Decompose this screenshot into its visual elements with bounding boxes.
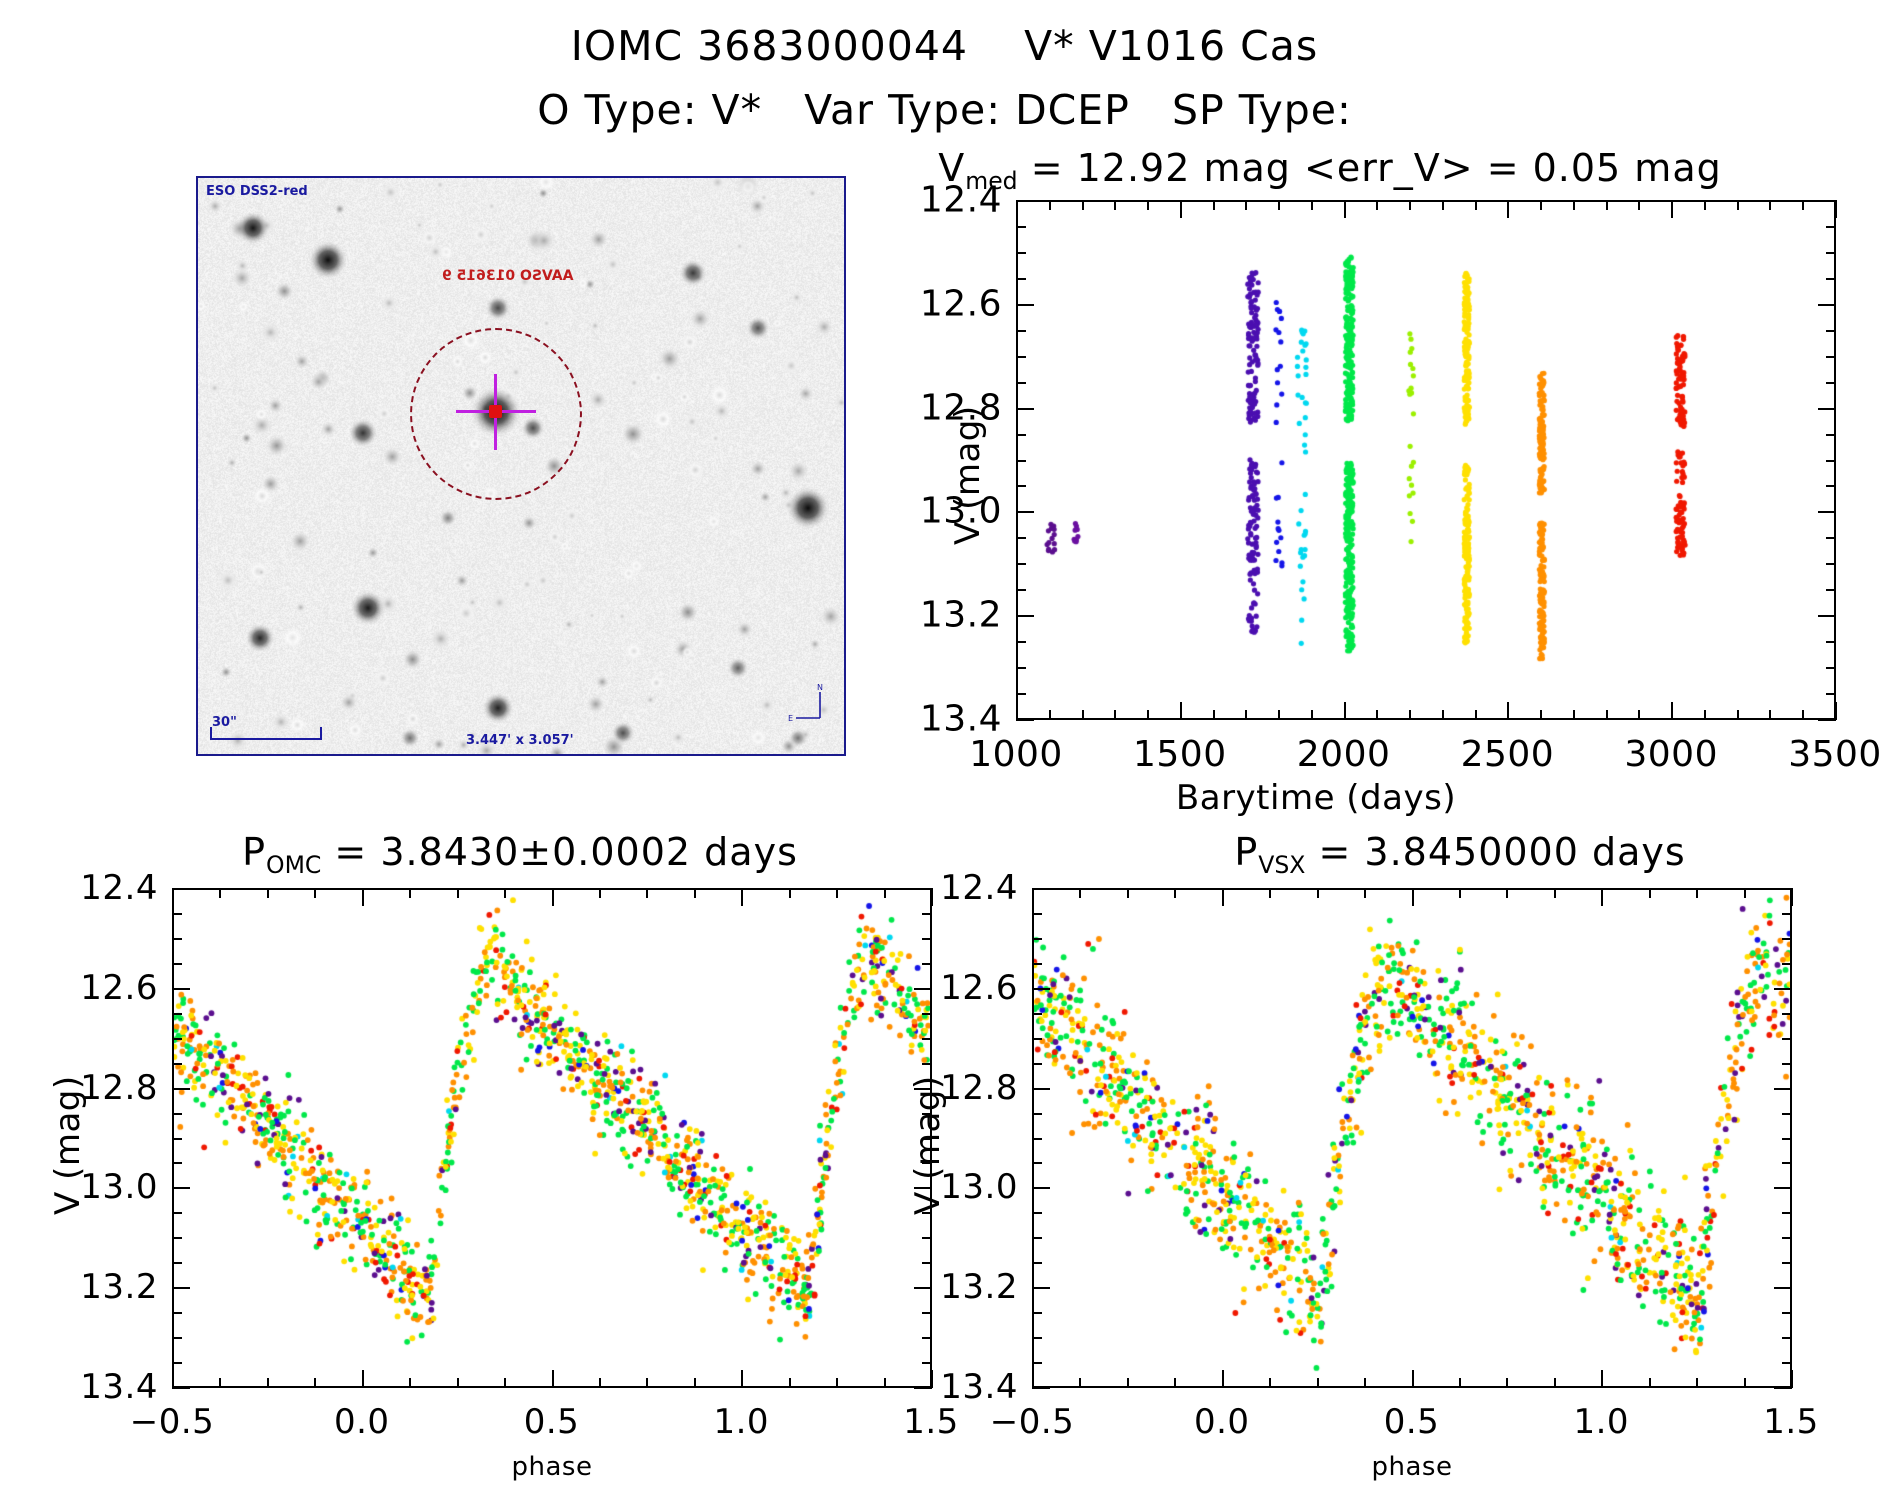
xaxis-minor-tick xyxy=(1376,710,1378,720)
xaxis-minor-tick-top xyxy=(1114,200,1116,210)
xaxis-minor-tick xyxy=(1364,1378,1366,1388)
xaxis-minor-tick xyxy=(504,1378,506,1388)
timeseries-scatter-canvas xyxy=(1018,202,1834,718)
xaxis-minor-tick xyxy=(457,1378,459,1388)
yaxis-minor-tick xyxy=(172,913,182,915)
xaxis-minor-tick-top xyxy=(1475,200,1477,210)
xaxis-tick-label: −0.5 xyxy=(990,1402,1075,1442)
yaxis-minor-tick xyxy=(1016,537,1026,539)
yaxis-tick-label: 12.8 xyxy=(920,387,1002,428)
xaxis-minor-tick xyxy=(1573,710,1575,720)
yaxis-minor-tick xyxy=(1016,641,1026,643)
xaxis-tick-label: 3000 xyxy=(1624,734,1718,775)
yaxis-minor-tick-right xyxy=(922,1212,932,1214)
omc-title-subscript: OMC xyxy=(266,851,321,879)
iomc-datasheet: IOMC 3683000044 V* V1016 Cas O Type: V* … xyxy=(0,0,1889,1494)
yaxis-major-tick xyxy=(1016,615,1034,617)
xaxis-tick-label: 2500 xyxy=(1461,734,1555,775)
xaxis-major-tick-top xyxy=(172,888,174,906)
xaxis-minor-tick-top xyxy=(1638,200,1640,210)
xaxis-minor-tick-top xyxy=(1696,888,1698,898)
yaxis-tick-label: 13.4 xyxy=(80,1367,158,1407)
xaxis-minor-tick xyxy=(1475,710,1477,720)
xaxis-minor-tick xyxy=(1540,710,1542,720)
yaxis-minor-tick xyxy=(1016,667,1026,669)
yaxis-major-tick xyxy=(1016,511,1034,513)
yaxis-minor-tick xyxy=(1016,356,1026,358)
xaxis-minor-tick-top xyxy=(1213,200,1215,210)
xaxis-major-tick xyxy=(1032,1370,1034,1388)
aavso-designation-label: AAVSO 013615 9 xyxy=(442,268,573,284)
yaxis-minor-tick-right xyxy=(1826,667,1836,669)
yaxis-minor-tick-right xyxy=(1782,1212,1792,1214)
xaxis-minor-tick-top xyxy=(1606,200,1608,210)
compass-rose-icon: N E xyxy=(788,684,828,724)
yaxis-major-tick-right xyxy=(914,1287,932,1289)
yaxis-minor-tick xyxy=(1016,252,1026,254)
xaxis-minor-tick-top xyxy=(219,888,221,898)
yaxis-minor-tick-right xyxy=(1782,1013,1792,1015)
xaxis-major-tick xyxy=(1412,1370,1414,1388)
yaxis-major-tick xyxy=(1016,304,1034,306)
xaxis-tick-label: 0.5 xyxy=(1384,1402,1440,1442)
dss-field-size-label: 3.447' x 3.057' xyxy=(466,733,574,748)
omc-title-rest: = 3.8430±0.0002 days xyxy=(321,830,798,874)
yaxis-minor-tick-right xyxy=(1782,1312,1792,1314)
xaxis-minor-tick-top xyxy=(1082,200,1084,210)
xaxis-minor-tick xyxy=(314,1378,316,1388)
yaxis-minor-tick xyxy=(172,1212,182,1214)
yaxis-tick-label: 12.4 xyxy=(940,868,1018,908)
xaxis-minor-tick-top xyxy=(457,888,459,898)
xaxis-minor-tick xyxy=(836,1378,838,1388)
xaxis-minor-tick xyxy=(1696,1378,1698,1388)
yaxis-minor-tick-right xyxy=(1782,1162,1792,1164)
yaxis-major-tick-right xyxy=(1818,408,1836,410)
yaxis-minor-tick xyxy=(172,1113,182,1115)
xaxis-minor-tick xyxy=(1442,710,1444,720)
yaxis-minor-tick xyxy=(1032,1262,1042,1264)
xaxis-minor-tick-top xyxy=(1737,200,1739,210)
yaxis-major-tick xyxy=(1016,719,1034,721)
xaxis-minor-tick xyxy=(1213,710,1215,720)
yaxis-minor-tick-right xyxy=(1826,434,1836,436)
yaxis-minor-tick-right xyxy=(1826,330,1836,332)
vsx-xaxis-label: phase xyxy=(1372,1452,1453,1482)
yaxis-minor-tick-right xyxy=(1826,226,1836,228)
xaxis-minor-tick-top xyxy=(1649,888,1651,898)
yaxis-minor-tick-right xyxy=(922,1162,932,1164)
omc-phase-scatter-canvas xyxy=(174,890,930,1386)
yaxis-tick-label: 12.4 xyxy=(920,180,1002,221)
yaxis-minor-tick-right xyxy=(1782,1337,1792,1339)
target-marker xyxy=(489,405,502,418)
xaxis-major-tick xyxy=(1835,702,1837,720)
yaxis-minor-tick-right xyxy=(1826,278,1836,280)
yaxis-major-tick-right xyxy=(914,988,932,990)
xaxis-minor-tick xyxy=(1082,710,1084,720)
xaxis-major-tick-top xyxy=(1601,888,1603,906)
xaxis-major-tick-top xyxy=(1412,888,1414,906)
yaxis-minor-tick xyxy=(1016,330,1026,332)
yaxis-minor-tick xyxy=(172,1013,182,1015)
yaxis-major-tick xyxy=(1032,1287,1050,1289)
yaxis-minor-tick xyxy=(1016,589,1026,591)
yaxis-minor-tick-right xyxy=(1782,1262,1792,1264)
xaxis-minor-tick-top xyxy=(1079,888,1081,898)
xaxis-major-tick-top xyxy=(1791,888,1793,906)
yaxis-tick-label: 12.6 xyxy=(920,283,1002,324)
yaxis-minor-tick xyxy=(1032,1237,1042,1239)
yaxis-minor-tick-right xyxy=(1782,1138,1792,1140)
yaxis-minor-tick xyxy=(172,938,182,940)
yaxis-minor-tick-right xyxy=(922,1138,932,1140)
yaxis-minor-tick-right xyxy=(1826,693,1836,695)
xaxis-major-tick xyxy=(362,1370,364,1388)
yaxis-minor-tick xyxy=(1032,1013,1042,1015)
xaxis-major-tick-top xyxy=(741,888,743,906)
xaxis-minor-tick-top xyxy=(1049,200,1051,210)
yaxis-minor-tick xyxy=(1016,563,1026,565)
yaxis-minor-tick-right xyxy=(1826,537,1836,539)
xaxis-minor-tick-top xyxy=(1554,888,1556,898)
yaxis-major-tick xyxy=(172,1387,190,1389)
xaxis-minor-tick xyxy=(1704,710,1706,720)
xaxis-minor-tick xyxy=(884,1378,886,1388)
yaxis-minor-tick-right xyxy=(922,1362,932,1364)
vsx-title-rest: = 3.8450000 days xyxy=(1305,830,1685,874)
yaxis-major-tick-right xyxy=(1818,200,1836,202)
xaxis-minor-tick xyxy=(1311,710,1313,720)
yaxis-minor-tick xyxy=(1032,1362,1042,1364)
yaxis-minor-tick xyxy=(1032,938,1042,940)
xaxis-minor-tick-top xyxy=(1317,888,1319,898)
yaxis-tick-label: 13.2 xyxy=(920,595,1002,636)
xaxis-minor-tick-top xyxy=(884,888,886,898)
xaxis-minor-tick xyxy=(1317,1378,1319,1388)
xaxis-major-tick-top xyxy=(1032,888,1034,906)
yaxis-minor-tick xyxy=(1016,485,1026,487)
yaxis-minor-tick xyxy=(1032,1212,1042,1214)
yaxis-minor-tick xyxy=(172,1262,182,1264)
xaxis-minor-tick xyxy=(1174,1378,1176,1388)
omc-panel-title: POMC = 3.8430±0.0002 days xyxy=(100,830,940,879)
yaxis-major-tick-right xyxy=(914,888,932,890)
yaxis-minor-tick xyxy=(1032,1337,1042,1339)
yaxis-major-tick-right xyxy=(914,1088,932,1090)
yaxis-tick-label: 13.0 xyxy=(80,1167,158,1207)
yaxis-minor-tick xyxy=(1032,1138,1042,1140)
xaxis-minor-tick xyxy=(1554,1378,1556,1388)
xaxis-minor-tick-top xyxy=(1573,200,1575,210)
timeseries-plot-frame xyxy=(1016,200,1836,720)
xaxis-minor-tick xyxy=(1606,710,1608,720)
yaxis-minor-tick-right xyxy=(922,938,932,940)
xaxis-minor-tick-top xyxy=(694,888,696,898)
yaxis-minor-tick xyxy=(172,1237,182,1239)
yaxis-minor-tick xyxy=(1016,434,1026,436)
yaxis-minor-tick-right xyxy=(1782,1038,1792,1040)
yaxis-major-tick-right xyxy=(1774,1287,1792,1289)
xaxis-major-tick-top xyxy=(552,888,554,906)
yaxis-minor-tick-right xyxy=(922,1013,932,1015)
xaxis-minor-tick xyxy=(1649,1378,1651,1388)
yaxis-minor-tick xyxy=(1016,460,1026,462)
xaxis-minor-tick xyxy=(1638,710,1640,720)
xaxis-minor-tick-top xyxy=(1376,200,1378,210)
yaxis-major-tick xyxy=(1032,988,1050,990)
timeseries-xaxis-label: Barytime (days) xyxy=(1176,778,1456,818)
yaxis-minor-tick-right xyxy=(922,1262,932,1264)
yaxis-major-tick-right xyxy=(914,1187,932,1189)
svg-text:N: N xyxy=(817,684,823,692)
xaxis-minor-tick-top xyxy=(1269,888,1271,898)
xaxis-major-tick-top xyxy=(1671,200,1673,218)
yaxis-tick-label: 13.0 xyxy=(920,491,1002,532)
yaxis-minor-tick xyxy=(172,1138,182,1140)
xaxis-major-tick-top xyxy=(1016,200,1018,218)
yaxis-major-tick-right xyxy=(1818,719,1836,721)
yaxis-major-tick xyxy=(172,1287,190,1289)
yaxis-minor-tick xyxy=(172,1063,182,1065)
xaxis-minor-tick-top xyxy=(409,888,411,898)
xaxis-tick-label: 1000 xyxy=(969,734,1063,775)
vsx-phase-plot-frame xyxy=(1032,888,1792,1388)
yaxis-major-tick xyxy=(172,988,190,990)
yaxis-tick-label: 12.4 xyxy=(80,868,158,908)
xaxis-major-tick xyxy=(931,1370,933,1388)
yaxis-major-tick xyxy=(172,888,190,890)
omc-phase-plot-frame xyxy=(172,888,932,1388)
xaxis-minor-tick xyxy=(1506,1378,1508,1388)
yaxis-major-tick-right xyxy=(1774,1088,1792,1090)
xaxis-tick-label: 0.0 xyxy=(334,1402,390,1442)
xaxis-major-tick-top xyxy=(362,888,364,906)
dss-finder-chart: ESO DSS2-red AAVSO 013615 9 30" 3.447' x… xyxy=(196,176,846,756)
xaxis-minor-tick-top xyxy=(1704,200,1706,210)
xaxis-major-tick xyxy=(1016,702,1018,720)
xaxis-minor-tick-top xyxy=(1174,888,1176,898)
yaxis-minor-tick-right xyxy=(1826,641,1836,643)
xaxis-minor-tick-top xyxy=(1311,200,1313,210)
yaxis-major-tick xyxy=(1032,1187,1050,1189)
yaxis-minor-tick-right xyxy=(1782,1362,1792,1364)
yaxis-minor-tick-right xyxy=(1826,563,1836,565)
omc-title-p: P xyxy=(242,830,266,874)
yaxis-minor-tick xyxy=(172,1362,182,1364)
vsx-title-p: P xyxy=(1234,830,1258,874)
xaxis-minor-tick xyxy=(1049,710,1051,720)
dss-survey-label: ESO DSS2-red xyxy=(206,184,308,199)
xaxis-major-tick-top xyxy=(1835,200,1837,218)
yaxis-tick-label: 12.8 xyxy=(80,1068,158,1108)
xaxis-major-tick xyxy=(1344,702,1346,720)
object-types-line: O Type: V* Var Type: DCEP SP Type: xyxy=(0,86,1889,134)
yaxis-minor-tick-right xyxy=(1826,356,1836,358)
dss-scalebar-label: 30" xyxy=(212,715,237,730)
svg-text:E: E xyxy=(788,714,793,723)
xaxis-minor-tick-top xyxy=(836,888,838,898)
yaxis-minor-tick-right xyxy=(1782,963,1792,965)
yaxis-minor-tick-right xyxy=(922,1312,932,1314)
xaxis-minor-tick-top xyxy=(646,888,648,898)
xaxis-minor-tick xyxy=(1769,710,1771,720)
xaxis-major-tick xyxy=(1222,1370,1224,1388)
yaxis-minor-tick-right xyxy=(922,963,932,965)
xaxis-minor-tick xyxy=(1127,1378,1129,1388)
yaxis-minor-tick-right xyxy=(1826,460,1836,462)
yaxis-minor-tick xyxy=(172,1337,182,1339)
yaxis-minor-tick xyxy=(1016,693,1026,695)
yaxis-tick-label: 13.2 xyxy=(80,1267,158,1307)
yaxis-tick-label: 12.6 xyxy=(80,968,158,1008)
xaxis-minor-tick-top xyxy=(1127,888,1129,898)
yaxis-minor-tick xyxy=(1016,382,1026,384)
xaxis-minor-tick xyxy=(219,1378,221,1388)
xaxis-minor-tick-top xyxy=(267,888,269,898)
xaxis-minor-tick xyxy=(1459,1378,1461,1388)
xaxis-tick-label: 1.5 xyxy=(903,1402,959,1442)
xaxis-major-tick xyxy=(1671,702,1673,720)
yaxis-major-tick xyxy=(172,1088,190,1090)
omc-xaxis-label: phase xyxy=(512,1452,593,1482)
yaxis-minor-tick xyxy=(1032,1312,1042,1314)
yaxis-minor-tick xyxy=(1032,963,1042,965)
xaxis-minor-tick xyxy=(1744,1378,1746,1388)
xaxis-minor-tick xyxy=(409,1378,411,1388)
xaxis-minor-tick-top xyxy=(1278,200,1280,210)
yaxis-major-tick-right xyxy=(1774,1187,1792,1189)
xaxis-minor-tick xyxy=(1079,1378,1081,1388)
vsx-title-subscript: VSX xyxy=(1258,851,1305,879)
xaxis-minor-tick-top xyxy=(1802,200,1804,210)
xaxis-minor-tick xyxy=(1802,710,1804,720)
yaxis-minor-tick xyxy=(172,1312,182,1314)
yaxis-major-tick xyxy=(1032,1387,1050,1389)
page-title: IOMC 3683000044 V* V1016 Cas xyxy=(0,22,1889,70)
xaxis-minor-tick xyxy=(1278,710,1280,720)
yaxis-minor-tick-right xyxy=(922,1337,932,1339)
xaxis-major-tick xyxy=(1507,702,1509,720)
yaxis-tick-label: 12.8 xyxy=(940,1068,1018,1108)
yaxis-major-tick xyxy=(1016,200,1034,202)
yaxis-minor-tick xyxy=(1016,278,1026,280)
yaxis-minor-tick-right xyxy=(1782,913,1792,915)
yaxis-minor-tick xyxy=(1032,1038,1042,1040)
yaxis-minor-tick xyxy=(172,963,182,965)
vmed-text: = 12.92 mag <err_V> = 0.05 mag xyxy=(1018,146,1722,190)
yaxis-major-tick xyxy=(1032,1088,1050,1090)
xaxis-minor-tick-top xyxy=(1459,888,1461,898)
xaxis-minor-tick-top xyxy=(1147,200,1149,210)
yaxis-minor-tick-right xyxy=(1782,1063,1792,1065)
xaxis-major-tick xyxy=(552,1370,554,1388)
xaxis-major-tick xyxy=(741,1370,743,1388)
xaxis-major-tick-top xyxy=(1344,200,1346,218)
yaxis-minor-tick xyxy=(172,1162,182,1164)
yaxis-tick-label: 13.4 xyxy=(920,699,1002,740)
xaxis-minor-tick-top xyxy=(1506,888,1508,898)
xaxis-minor-tick xyxy=(1409,710,1411,720)
xaxis-major-tick xyxy=(172,1370,174,1388)
yaxis-major-tick xyxy=(1032,888,1050,890)
yaxis-major-tick-right xyxy=(1818,615,1836,617)
xaxis-minor-tick xyxy=(694,1378,696,1388)
yaxis-minor-tick xyxy=(1016,226,1026,228)
xaxis-minor-tick xyxy=(1737,710,1739,720)
xaxis-minor-tick-top xyxy=(789,888,791,898)
xaxis-minor-tick xyxy=(1147,710,1149,720)
vsx-panel-title: PVSX = 3.8450000 days xyxy=(1060,830,1860,879)
yaxis-minor-tick xyxy=(1032,913,1042,915)
xaxis-minor-tick xyxy=(267,1378,269,1388)
yaxis-minor-tick-right xyxy=(1826,485,1836,487)
yaxis-minor-tick xyxy=(1032,1113,1042,1115)
yaxis-minor-tick-right xyxy=(1826,382,1836,384)
yaxis-major-tick-right xyxy=(1774,888,1792,890)
xaxis-tick-label: −0.5 xyxy=(130,1402,215,1442)
xaxis-tick-label: 2000 xyxy=(1297,734,1391,775)
xaxis-major-tick-top xyxy=(931,888,933,906)
yaxis-tick-label: 13.0 xyxy=(940,1167,1018,1207)
xaxis-major-tick-top xyxy=(1222,888,1224,906)
xaxis-minor-tick-top xyxy=(314,888,316,898)
yaxis-minor-tick xyxy=(172,1038,182,1040)
xaxis-major-tick xyxy=(1791,1370,1793,1388)
yaxis-major-tick-right xyxy=(1818,304,1836,306)
yaxis-major-tick-right xyxy=(1818,511,1836,513)
yaxis-tick-label: 12.6 xyxy=(940,968,1018,1008)
vsx-phase-scatter-canvas xyxy=(1034,890,1790,1386)
yaxis-minor-tick-right xyxy=(1782,1113,1792,1115)
yaxis-minor-tick-right xyxy=(922,1063,932,1065)
xaxis-tick-label: 3500 xyxy=(1788,734,1882,775)
yaxis-minor-tick-right xyxy=(1782,1237,1792,1239)
xaxis-major-tick xyxy=(1601,1370,1603,1388)
xaxis-tick-label: 0.5 xyxy=(524,1402,580,1442)
yaxis-minor-tick-right xyxy=(922,1038,932,1040)
xaxis-minor-tick-top xyxy=(1769,200,1771,210)
yaxis-minor-tick-right xyxy=(1782,938,1792,940)
xaxis-minor-tick xyxy=(789,1378,791,1388)
xaxis-minor-tick xyxy=(1245,710,1247,720)
xaxis-minor-tick-top xyxy=(1540,200,1542,210)
yaxis-major-tick-right xyxy=(1774,1387,1792,1389)
xaxis-minor-tick-top xyxy=(599,888,601,898)
xaxis-minor-tick-top xyxy=(1744,888,1746,898)
yaxis-minor-tick-right xyxy=(1826,252,1836,254)
xaxis-minor-tick-top xyxy=(1364,888,1366,898)
xaxis-major-tick-top xyxy=(1180,200,1182,218)
yaxis-minor-tick-right xyxy=(922,1237,932,1239)
yaxis-minor-tick xyxy=(1032,1162,1042,1164)
xaxis-tick-label: 1.5 xyxy=(1763,1402,1819,1442)
xaxis-minor-tick-top xyxy=(1442,200,1444,210)
yaxis-major-tick xyxy=(1016,408,1034,410)
xaxis-tick-label: 1500 xyxy=(1133,734,1227,775)
xaxis-major-tick-top xyxy=(1507,200,1509,218)
xaxis-minor-tick-top xyxy=(1409,200,1411,210)
yaxis-minor-tick xyxy=(1032,1063,1042,1065)
yaxis-minor-tick-right xyxy=(922,1113,932,1115)
xaxis-minor-tick xyxy=(646,1378,648,1388)
xaxis-tick-label: 0.0 xyxy=(1194,1402,1250,1442)
yaxis-minor-tick-right xyxy=(1826,589,1836,591)
yaxis-minor-tick-right xyxy=(922,913,932,915)
xaxis-minor-tick xyxy=(1114,710,1116,720)
yaxis-tick-label: 13.2 xyxy=(940,1267,1018,1307)
xaxis-minor-tick xyxy=(1269,1378,1271,1388)
